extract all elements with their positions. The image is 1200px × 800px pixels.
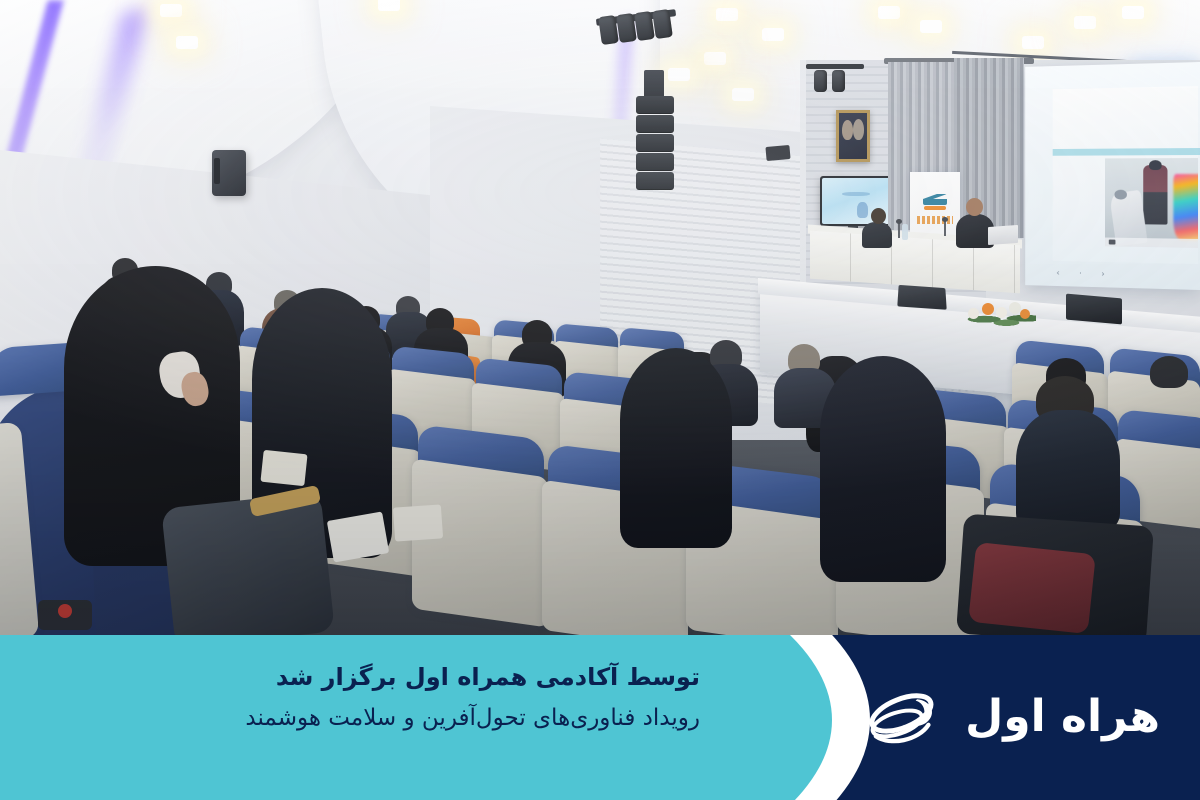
video-person-head: [1149, 160, 1161, 170]
attendee-foreground: [1016, 410, 1120, 530]
stage-floor-monitor: [1066, 294, 1122, 325]
ceiling-downlight: [704, 52, 726, 65]
panel-speaker-head: [966, 198, 983, 216]
ceiling-downlight: [762, 28, 784, 41]
event-photo: ‹ · ›: [0, 0, 1200, 640]
ceiling-downlight: [668, 68, 690, 81]
banner-subline: رویداد فناوری‌های تحول‌آفرین و سلامت هوش…: [245, 702, 700, 735]
speaker-module: [636, 96, 674, 114]
mci-swoosh-icon: [857, 685, 943, 749]
lighting-truss: [806, 64, 864, 69]
flower: [982, 303, 994, 315]
academy-logo-icon: [923, 194, 947, 211]
banner-text-block: توسط آکادمی همراه اول برگزار شد رویداد ف…: [245, 661, 700, 736]
notepad: [260, 450, 307, 486]
ceiling-downlight: [1122, 6, 1144, 19]
brand-name: هراه اول: [965, 695, 1160, 739]
speaker-module: [636, 153, 674, 171]
speaker-module: [636, 115, 674, 133]
speaker-module: [636, 172, 674, 190]
ceiling-downlight: [732, 88, 754, 101]
banner-headline: توسط آکادمی همراه اول برگزار شد: [245, 661, 700, 693]
backpack: [161, 492, 335, 640]
bag: [968, 542, 1096, 634]
slide-nav-controls[interactable]: ‹ · ›: [1056, 269, 1113, 280]
stage-spotlight: [814, 70, 827, 92]
ceiling-downlight: [878, 6, 900, 19]
ceiling-downlight: [378, 0, 400, 11]
flower-arrangement: [962, 300, 1036, 330]
laptop: [988, 225, 1018, 245]
brand-lockup[interactable]: هراه اول: [857, 685, 1160, 749]
ceiling-downlight: [716, 8, 738, 21]
ceiling-downlight: [176, 36, 198, 49]
ceiling-downlight: [1022, 36, 1044, 49]
seat-number-marker: [58, 604, 72, 618]
wall-mounted-speaker: [212, 150, 246, 196]
wall-mounted-speaker: [765, 145, 790, 161]
table-microphone: [944, 220, 946, 236]
ceiling-downlight: [160, 4, 182, 17]
stage-spotlight: [832, 70, 845, 92]
slide-accent-band: [1053, 148, 1200, 156]
flower: [996, 307, 1007, 318]
speaker-module: [636, 134, 674, 152]
stage-floor-monitor: [897, 285, 946, 310]
panel-speaker-head: [871, 208, 886, 224]
table-microphone: [898, 222, 900, 238]
attendee-head: [1150, 356, 1188, 388]
ceiling-downlight: [1074, 16, 1096, 29]
news-banner: توسط آکادمی همراه اول برگزار شد رویداد ف…: [0, 635, 1200, 800]
auditorium-seat: [412, 458, 548, 627]
flower: [968, 308, 979, 319]
video-control-bar[interactable]: [1105, 238, 1198, 248]
attendee-foreground: [820, 356, 946, 582]
water-bottle: [902, 224, 908, 240]
notepad: [393, 504, 443, 541]
line-array-speakers: [636, 96, 674, 206]
panel-speaker: [862, 222, 892, 248]
page-root: ‹ · ›: [0, 0, 1200, 800]
slide-embedded-video: [1105, 158, 1198, 248]
attendee-foreground: [620, 348, 732, 548]
video-color-artwork: [1173, 174, 1198, 241]
ceiling-downlight: [920, 20, 942, 33]
flower: [1020, 309, 1030, 319]
presentation-screen: ‹ · ›: [1025, 62, 1200, 290]
framed-portrait: [836, 110, 870, 162]
window-curtain: [954, 58, 1024, 238]
video-person: [1144, 165, 1168, 224]
